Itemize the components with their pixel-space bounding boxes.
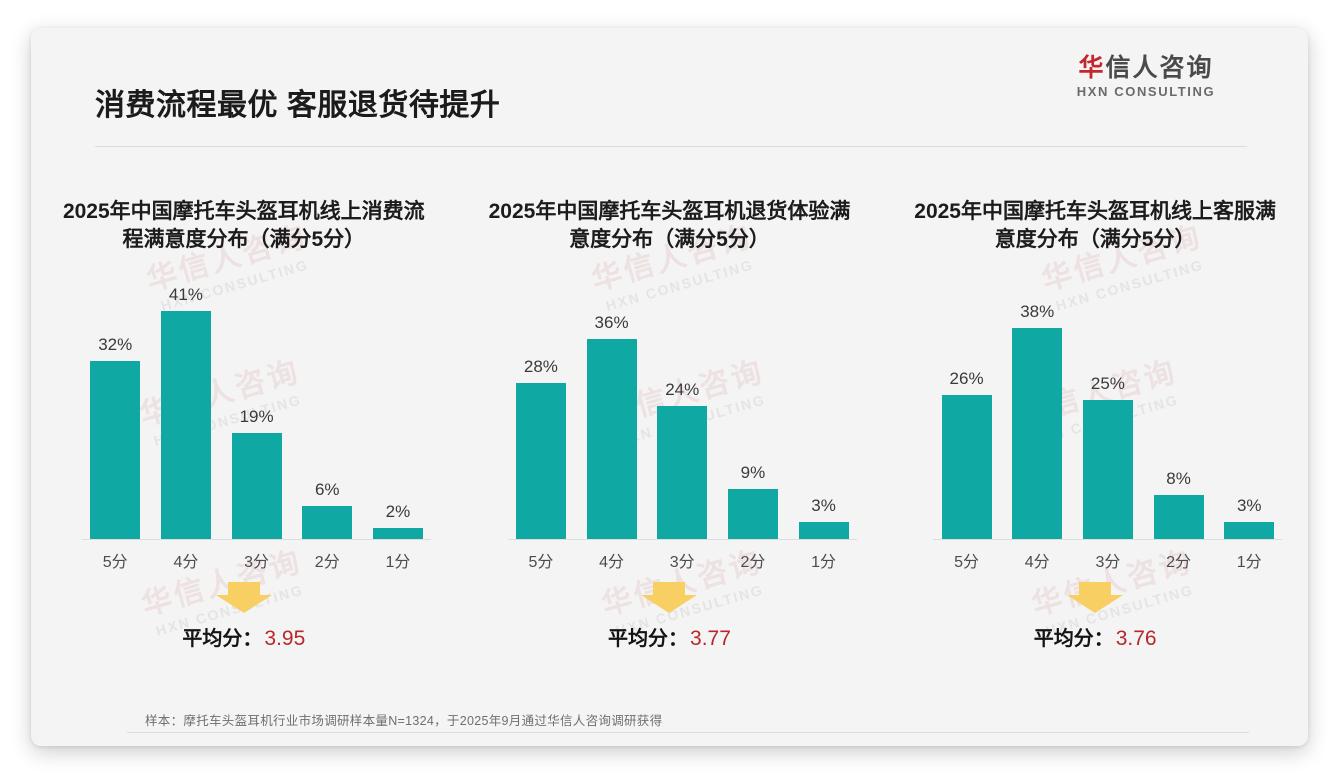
x-tick-label: 2分: [720, 548, 786, 572]
bar-slot: 38%: [1004, 289, 1070, 539]
bar-slot: 9%: [720, 289, 786, 539]
x-axis-labels: 5分4分3分2分1分: [933, 548, 1282, 572]
x-tick-label: 4分: [578, 548, 644, 572]
chart-panel-3: 2025年中国摩托车头盔耳机线上客服满意度分布（满分5分）26%38%25%8%…: [882, 160, 1308, 660]
bar[interactable]: [161, 311, 211, 539]
x-axis-labels: 5分4分3分2分1分: [508, 548, 857, 572]
plot-area: 26%38%25%8%3%: [882, 290, 1308, 540]
brand-logo-cn: 华信人咨询: [1046, 55, 1246, 81]
average-score-label: 平均分：: [1034, 628, 1114, 650]
bar[interactable]: [728, 489, 778, 539]
bar-value-label: 9%: [720, 463, 786, 483]
average-score-block: 平均分：3.95: [31, 580, 457, 651]
bar-slot: 36%: [578, 289, 644, 539]
x-tick-label: 3分: [649, 548, 715, 572]
axis-baseline: [508, 539, 857, 540]
chart-title: 2025年中国摩托车头盔耳机线上客服满意度分布（满分5分）: [908, 198, 1283, 255]
brand-logo-cn-rest: 信人咨询: [1106, 54, 1214, 82]
bar-value-label: 6%: [294, 480, 360, 500]
bar-series: 26%38%25%8%3%: [933, 289, 1282, 539]
bar-value-label: 26%: [933, 369, 999, 389]
bar-value-label: 32%: [82, 335, 148, 355]
bar-series: 28%36%24%9%3%: [508, 289, 857, 539]
bar-value-label: 24%: [649, 380, 715, 400]
bar-slot: 24%: [649, 289, 715, 539]
x-tick-label: 1分: [365, 548, 431, 572]
bar-slot: 26%: [933, 289, 999, 539]
x-tick-label: 4分: [153, 548, 219, 572]
average-score-line: 平均分：3.95: [31, 622, 457, 651]
average-score-line: 平均分：3.77: [457, 622, 883, 651]
bar-value-label: 2%: [365, 502, 431, 522]
arrow-down-icon: [1065, 580, 1125, 614]
page-title: 消费流程最优 客服退货待提升: [95, 80, 500, 124]
x-tick-label: 3分: [223, 548, 289, 572]
brand-logo-cn-first: 华: [1078, 54, 1105, 82]
bar[interactable]: [657, 406, 707, 539]
bar-value-label: 3%: [1216, 496, 1282, 516]
bar-value-label: 36%: [578, 313, 644, 333]
bar[interactable]: [1012, 328, 1062, 539]
chart-title: 2025年中国摩托车头盔耳机线上消费流程满意度分布（满分5分）: [57, 198, 432, 255]
slide-canvas: 消费流程最优 客服退货待提升 华信人咨询 HXN CONSULTING 华信人咨…: [0, 0, 1340, 780]
x-tick-label: 5分: [508, 548, 574, 572]
bar[interactable]: [516, 383, 566, 539]
chart-panel-2: 2025年中国摩托车头盔耳机退货体验满意度分布（满分5分）28%36%24%9%…: [457, 160, 883, 660]
x-axis-labels: 5分4分3分2分1分: [82, 548, 431, 572]
bar[interactable]: [373, 528, 423, 539]
axis-baseline: [933, 539, 1282, 540]
average-score-value: 3.76: [1116, 627, 1157, 650]
slide-header: 消费流程最优 客服退货待提升 华信人咨询 HXN CONSULTING: [31, 28, 1308, 126]
bar-value-label: 25%: [1075, 374, 1141, 394]
bar-value-label: 19%: [223, 407, 289, 427]
bar-slot: 28%: [508, 289, 574, 539]
bar-slot: 8%: [1145, 289, 1211, 539]
bar-slot: 32%: [82, 289, 148, 539]
sample-footnote: 样本：摩托车头盔耳机行业市场调研样本量N=1324，于2025年9月通过华信人咨…: [145, 710, 662, 729]
x-tick-label: 2分: [1145, 548, 1211, 572]
x-tick-label: 1分: [790, 548, 856, 572]
bar[interactable]: [1154, 495, 1204, 539]
x-tick-label: 2分: [294, 548, 360, 572]
plot-inner: 26%38%25%8%3%: [933, 290, 1282, 540]
bar-value-label: 38%: [1004, 302, 1070, 322]
bar-slot: 6%: [294, 289, 360, 539]
bar-slot: 19%: [223, 289, 289, 539]
bar-slot: 3%: [1216, 289, 1282, 539]
plot-area: 32%41%19%6%2%: [31, 290, 457, 540]
bar-value-label: 28%: [508, 357, 574, 377]
arrow-down-icon: [214, 580, 274, 614]
bar-value-label: 41%: [153, 285, 219, 305]
x-tick-label: 3分: [1075, 548, 1141, 572]
footer-divider: [127, 732, 1249, 733]
bar-slot: 41%: [153, 289, 219, 539]
average-score-block: 平均分：3.77: [457, 580, 883, 651]
bar[interactable]: [799, 522, 849, 539]
axis-baseline: [82, 539, 431, 540]
plot-inner: 28%36%24%9%3%: [508, 290, 857, 540]
charts-row: 2025年中国摩托车头盔耳机线上消费流程满意度分布（满分5分）32%41%19%…: [31, 160, 1308, 660]
average-score-line: 平均分：3.76: [882, 622, 1308, 651]
brand-logo-en: HXN CONSULTING: [1046, 84, 1246, 99]
plot-area: 28%36%24%9%3%: [457, 290, 883, 540]
x-tick-label: 4分: [1004, 548, 1070, 572]
slide-card: 消费流程最优 客服退货待提升 华信人咨询 HXN CONSULTING 华信人咨…: [31, 28, 1308, 746]
bar[interactable]: [1224, 522, 1274, 539]
header-divider: [95, 146, 1247, 147]
average-score-block: 平均分：3.76: [882, 580, 1308, 651]
x-tick-label: 5分: [933, 548, 999, 572]
bar[interactable]: [1083, 400, 1133, 539]
bar-value-label: 8%: [1145, 469, 1211, 489]
average-score-value: 3.77: [690, 627, 731, 650]
bar-slot: 3%: [790, 289, 856, 539]
bar[interactable]: [587, 339, 637, 539]
bar[interactable]: [942, 395, 992, 539]
arrow-down-icon: [639, 580, 699, 614]
x-tick-label: 1分: [1216, 548, 1282, 572]
chart-title: 2025年中国摩托车头盔耳机退货体验满意度分布（满分5分）: [482, 198, 857, 255]
plot-inner: 32%41%19%6%2%: [82, 290, 431, 540]
average-score-value: 3.95: [264, 627, 305, 650]
x-tick-label: 5分: [82, 548, 148, 572]
bar-value-label: 3%: [790, 496, 856, 516]
bar-slot: 2%: [365, 289, 431, 539]
bar-series: 32%41%19%6%2%: [82, 289, 431, 539]
chart-panel-1: 2025年中国摩托车头盔耳机线上消费流程满意度分布（满分5分）32%41%19%…: [31, 160, 457, 660]
brand-logo: 华信人咨询 HXN CONSULTING: [1046, 55, 1246, 99]
bar[interactable]: [232, 433, 282, 539]
bar-slot: 25%: [1075, 289, 1141, 539]
average-score-label: 平均分：: [608, 628, 688, 650]
bar[interactable]: [302, 506, 352, 539]
average-score-label: 平均分：: [182, 628, 262, 650]
bar[interactable]: [90, 361, 140, 539]
